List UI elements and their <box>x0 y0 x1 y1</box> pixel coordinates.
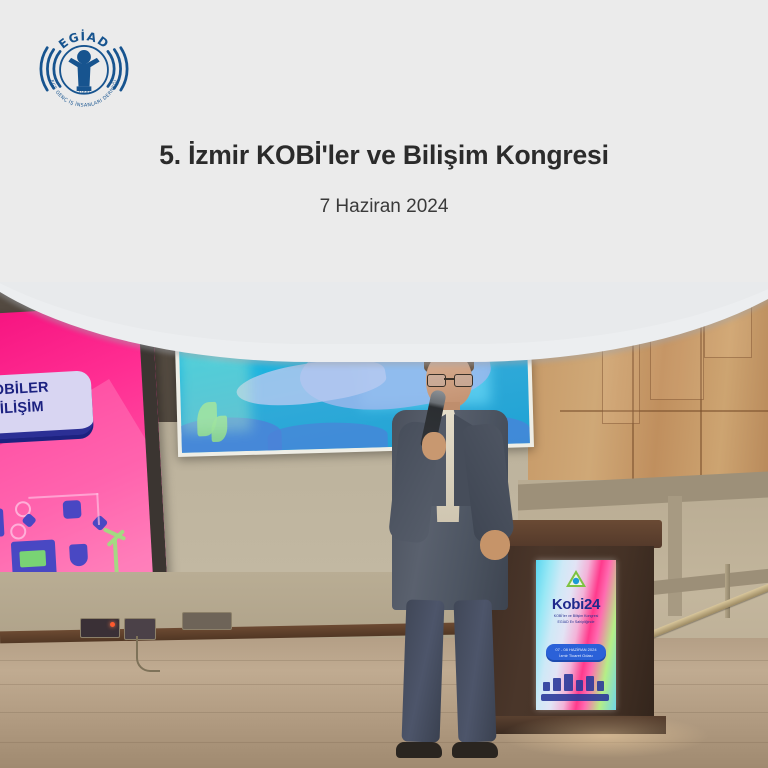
poster-icon <box>597 681 604 691</box>
poster-icon <box>553 678 561 691</box>
poster-icon-row <box>541 668 611 704</box>
presenter-shoe-right <box>452 742 498 758</box>
poster-icon <box>576 680 583 691</box>
chip-icon <box>63 500 82 519</box>
kobi24-logo-icon <box>565 569 587 589</box>
congress-announcement-poster: 1990 EGİAD EGE GENÇ İŞ İNSANLARI DERNEĞİ… <box>0 0 768 768</box>
node-ring-icon <box>10 523 27 540</box>
presenter-hand-holding-mic <box>422 432 446 460</box>
kobi24-poster-date-badge: 07 - 08 HAZİRAN 2024 İzmir Ticaret Odası <box>546 644 606 660</box>
stage-light-reflection <box>500 714 710 758</box>
presenter-shoe-left <box>396 742 442 758</box>
svg-text:EGİAD: EGİAD <box>56 28 112 51</box>
wood-seam <box>560 410 768 412</box>
presenter-legs <box>404 600 496 752</box>
event-date: 7 Haziran 2024 <box>0 172 768 219</box>
poster-icon <box>543 682 550 691</box>
poster-badge-text: 07 - 08 HAZİRAN 2024 İzmir Ticaret Odası <box>546 647 606 659</box>
kobi24-poster-subtitle: KOBİ'ler ve Bilişim Kongresi EGİAD Ev Sa… <box>536 614 616 626</box>
page-title: 5. İzmir KOBİ'ler ve Bilişim Kongresi <box>0 140 768 172</box>
book-icon <box>0 508 4 538</box>
status-led-indicator <box>110 622 115 627</box>
wall-panel-dark <box>80 618 120 638</box>
poster-badge-line-2: İzmir Ticaret Odası <box>546 653 606 659</box>
poster-icon <box>586 676 594 691</box>
presenter-hand-gesturing <box>480 530 510 560</box>
glasses-icon <box>427 374 471 385</box>
egiad-logo: 1990 EGİAD EGE GENÇ İŞ İNSANLARI DERNEĞİ <box>38 22 130 114</box>
wood-panel <box>602 338 640 424</box>
conference-stage-photo: ü KOBİLER ü BİLİŞİM <box>0 282 768 768</box>
poster-icon <box>564 674 573 691</box>
power-cable <box>136 636 160 672</box>
poster-icon-baseline <box>541 694 609 701</box>
money-icon <box>19 550 46 567</box>
presenter-leg-right <box>454 599 497 742</box>
presenter <box>372 352 522 768</box>
banner-line-2: ü BİLİŞİM <box>0 395 93 423</box>
kobi24-poster: Kobi24 KOBİ'ler ve Bilişim Kongresi EGİA… <box>536 560 616 710</box>
title-block: 5. İzmir KOBİ'ler ve Bilişim Kongresi 7 … <box>0 140 768 219</box>
header-area: 1990 EGİAD EGE GENÇ İŞ İNSANLARI DERNEĞİ… <box>0 0 768 300</box>
poster-note-line: EGİAD Ev Sahipliğinde <box>536 620 616 626</box>
banner-headline-text: ü KOBİLER ü BİLİŞİM <box>0 376 93 423</box>
handrail-post <box>725 564 730 618</box>
banner-headline-pill: ü KOBİLER ü BİLİŞİM <box>0 370 94 443</box>
presenter-leg-left <box>402 599 445 742</box>
connector-line <box>96 493 100 525</box>
svg-text:1990: 1990 <box>78 90 90 96</box>
kobi24-poster-title: Kobi24 <box>536 596 616 613</box>
column <box>668 496 682 616</box>
shield-icon <box>69 544 88 567</box>
wall-panel-light <box>182 612 232 630</box>
